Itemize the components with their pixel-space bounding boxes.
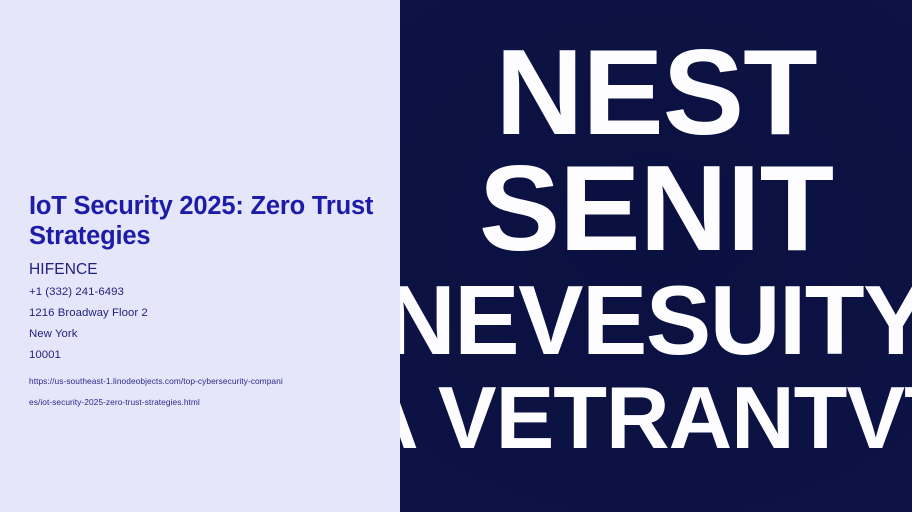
article-info-block: IoT Security 2025: Zero Trust Strategies… <box>29 191 381 412</box>
headline-line-2: SENIT <box>479 147 833 269</box>
info-panel: IoT Security 2025: Zero Trust Strategies… <box>0 0 400 512</box>
address-city: New York <box>29 328 381 341</box>
address-street: 1216 Broadway Floor 2 <box>29 307 381 320</box>
source-url[interactable]: https://us-southeast-1.linodeobjects.com… <box>29 371 369 412</box>
address-zip: 10001 <box>29 349 381 362</box>
source-url-line-2: es/iot-security-2025-zero-trust-strategi… <box>29 392 369 413</box>
headline-panel: NEST SENIT NEVESUITY A VETRANTVT <box>400 0 912 512</box>
headline-line-1: NEST <box>495 31 816 153</box>
headline-line-4: A VETRANTVT <box>400 374 912 462</box>
company-name: HIFENCE <box>29 261 381 279</box>
headline-stack: NEST SENIT NEVESUITY A VETRANTVT <box>400 0 912 512</box>
promo-banner: IoT Security 2025: Zero Trust Strategies… <box>0 0 912 512</box>
page-title: IoT Security 2025: Zero Trust Strategies <box>29 191 374 252</box>
headline-line-3: NEVESUITY <box>400 271 912 369</box>
source-url-line-1: https://us-southeast-1.linodeobjects.com… <box>29 371 369 392</box>
company-phone: +1 (332) 241-6493 <box>29 286 381 299</box>
